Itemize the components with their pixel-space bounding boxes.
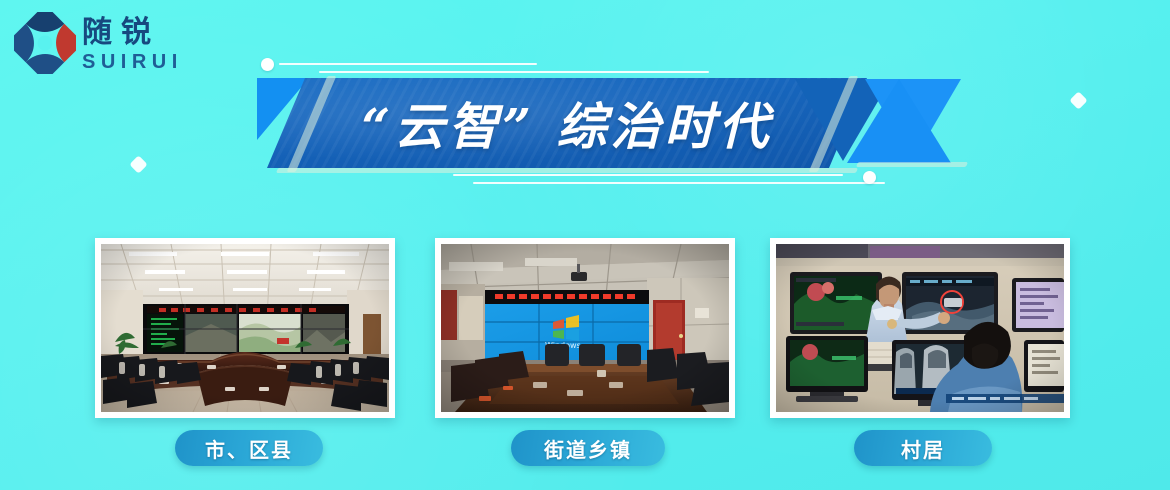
card-label-village[interactable]: 村居	[854, 430, 992, 466]
card-city-district[interactable]: 市、区县	[95, 238, 395, 418]
deco-dot-top-left	[261, 58, 274, 71]
card-row: 市、区县	[0, 238, 1170, 478]
page-title: “云智” 综治时代	[267, 78, 867, 168]
deco-line-bottom-1	[453, 174, 843, 176]
card-street-town[interactable]: Windows	[435, 238, 735, 418]
photo-frame	[770, 238, 1070, 418]
card-label-street-town[interactable]: 街道乡镇	[511, 430, 665, 466]
deco-line-top-1	[279, 63, 537, 65]
banner-sheen-bottom-right	[856, 162, 968, 167]
brand-name-en: SUIRUI	[82, 51, 252, 73]
card-label-city-district[interactable]: 市、区县	[175, 430, 323, 466]
deco-dot-bottom-right	[863, 171, 876, 184]
street-town-meeting-room-photo: Windows	[441, 244, 729, 412]
photo-frame: Windows	[435, 238, 735, 418]
brand-logo: 随锐 SUIRUI	[14, 12, 254, 80]
slide-canvas: 随锐 SUIRUI “云智” 综治时代	[0, 0, 1170, 490]
deco-line-bottom-2	[473, 182, 885, 184]
photo-frame	[95, 238, 395, 418]
suirui-pinwheel-logo-icon	[14, 12, 76, 74]
title-banner: “云智” 综治时代	[255, 52, 945, 192]
banner-sheen-bottom	[276, 168, 858, 173]
city-command-center-photo	[101, 244, 389, 412]
deco-line-top-2	[319, 71, 709, 73]
brand-logo-text: 随锐 SUIRUI	[82, 16, 252, 73]
card-village[interactable]: 村居	[770, 238, 1070, 418]
decorative-diamond-left	[129, 155, 147, 173]
decorative-diamond-right	[1069, 91, 1087, 109]
brand-name-cn: 随锐	[82, 16, 252, 50]
village-monitoring-room-photo	[776, 244, 1064, 412]
